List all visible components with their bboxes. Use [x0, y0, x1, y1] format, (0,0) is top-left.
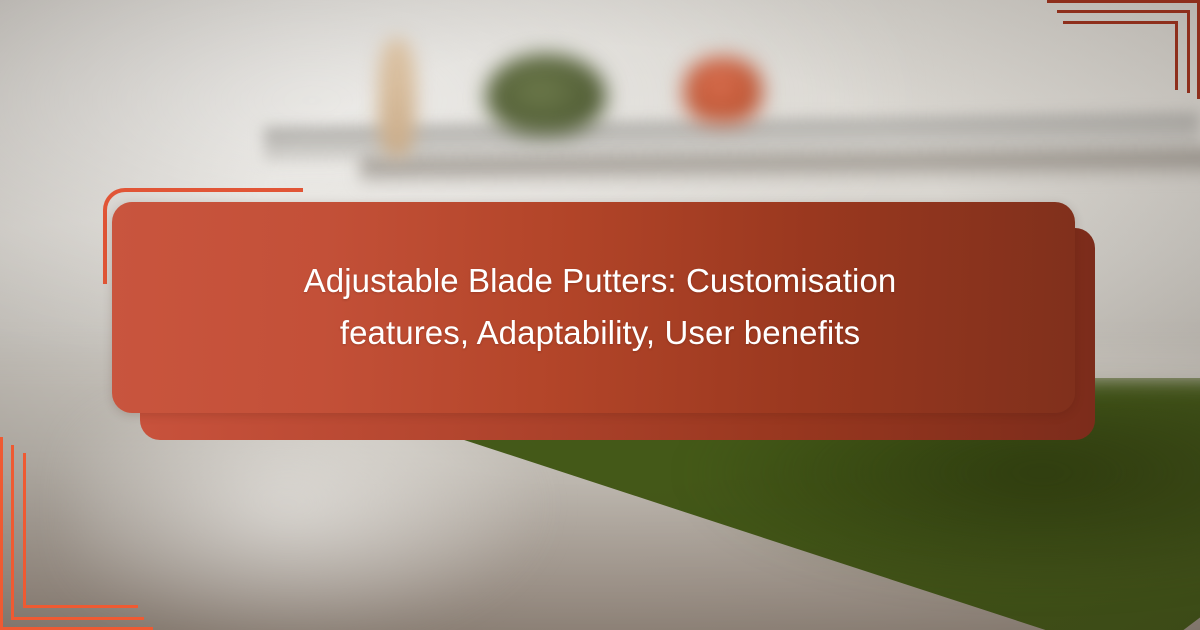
- banner-title: Adjustable Blade Putters: Customisation …: [150, 255, 1050, 359]
- banner-canvas: Adjustable Blade Putters: Customisation …: [0, 0, 1200, 630]
- title-card: Adjustable Blade Putters: Customisation …: [0, 0, 1200, 630]
